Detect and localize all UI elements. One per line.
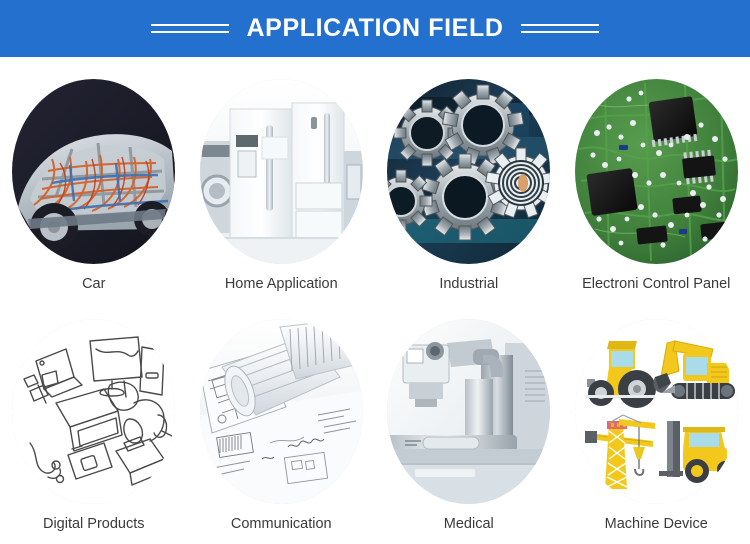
application-item-label: Machine Device	[605, 517, 708, 533]
application-item-label: Medical	[444, 517, 494, 533]
page-header-banner: APPLICATION FIELD	[0, 0, 750, 57]
application-item-car[interactable]: Car	[0, 57, 188, 301]
application-item-label: Car	[82, 277, 105, 293]
page-title: APPLICATION FIELD	[247, 16, 504, 41]
application-item-label: Home Application	[225, 277, 338, 293]
circuit-board-art	[575, 79, 738, 264]
car-image-circle	[12, 79, 175, 264]
application-item-digital-products[interactable]: Digital Products	[0, 301, 188, 544]
construction-machines-art	[575, 319, 738, 504]
communication-image-circle	[200, 319, 363, 504]
blueprint-rolls-art	[200, 319, 363, 504]
home-application-image-circle	[200, 79, 363, 264]
application-item-label: Digital Products	[43, 517, 145, 533]
application-grid-row: Car	[0, 57, 750, 301]
application-item-communication[interactable]: Communication	[188, 301, 376, 544]
industrial-image-circle	[387, 79, 550, 264]
medical-xray-machine-art	[387, 319, 550, 504]
home-appliances-art	[200, 79, 363, 264]
header-left-decoration-icon	[151, 24, 229, 33]
application-item-electronic-control-panel[interactable]: Electroni Control Panel	[563, 57, 750, 301]
application-grid: Car	[0, 57, 750, 544]
digital-products-image-circle	[12, 319, 175, 504]
electronic-control-panel-image-circle	[575, 79, 738, 264]
application-item-home-application[interactable]: Home Application	[188, 57, 376, 301]
application-field-page: APPLICATION FIELD	[0, 0, 750, 544]
header-right-decoration-icon	[521, 24, 599, 33]
application-item-label: Communication	[231, 517, 332, 533]
application-item-medical[interactable]: Medical	[375, 301, 563, 544]
application-grid-row: Digital Products	[0, 301, 750, 544]
application-item-label: Electroni Control Panel	[582, 277, 730, 293]
application-item-industrial[interactable]: Industrial	[375, 57, 563, 301]
car-wiring-harness-art	[12, 79, 175, 264]
application-item-label: Industrial	[439, 277, 498, 293]
digital-products-line-art	[12, 319, 175, 504]
industrial-gears-art	[387, 79, 550, 264]
application-item-machine-device[interactable]: Machine Device	[563, 301, 750, 544]
machine-device-image-circle	[575, 319, 738, 504]
medical-image-circle	[387, 319, 550, 504]
